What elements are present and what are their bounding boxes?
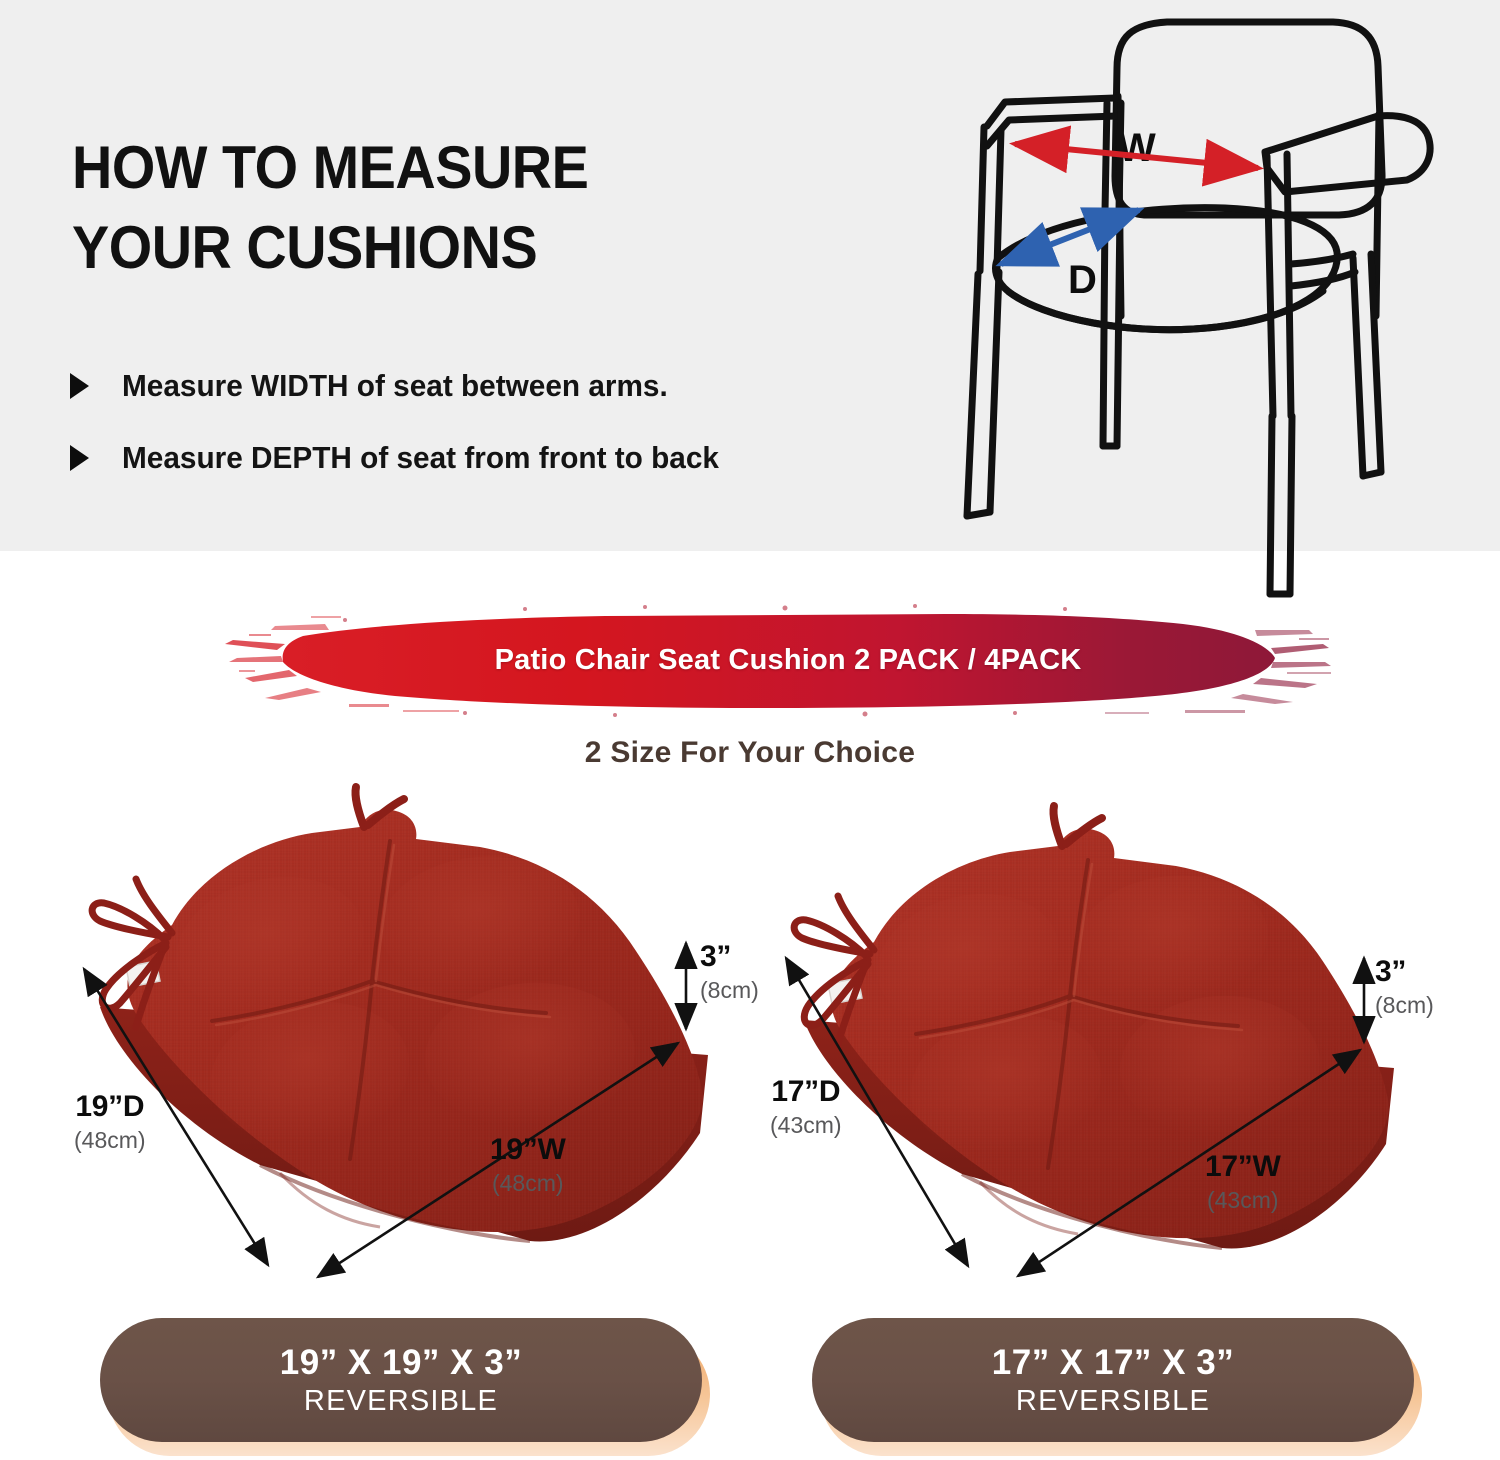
page-title-line-1: HOW TO MEASURE xyxy=(72,128,835,208)
pill-size-label: 17” X 17” X 3” xyxy=(992,1343,1234,1383)
width-arrow xyxy=(1015,144,1258,168)
instruction-list: Measure WIDTH of seat between arms. Meas… xyxy=(70,365,910,509)
pill-reversible-label: REVERSIBLE xyxy=(1016,1385,1210,1418)
pill-reversible-label: REVERSIBLE xyxy=(304,1385,498,1418)
list-item: Measure DEPTH of seat from front to back xyxy=(70,437,910,479)
list-item: Measure WIDTH of seat between arms. xyxy=(70,365,910,407)
cushion-19-inch: 19”D (48cm) 19”W (48cm) 3” (8cm) xyxy=(60,755,790,1295)
depth-dimension-label: 19”D (48cm) xyxy=(74,1090,146,1155)
thickness-dimension-label: 3” (8cm) xyxy=(700,940,759,1005)
size-option-17[interactable]: 17” X 17” X 3” REVERSIBLE xyxy=(812,1318,1422,1456)
product-banner: Patio Chair Seat Cushion 2 PACK / 4PACK xyxy=(225,600,1335,720)
pill-size-label: 19” X 19” X 3” xyxy=(280,1343,522,1383)
banner-title: Patio Chair Seat Cushion 2 PACK / 4PACK xyxy=(225,600,1335,720)
thickness-dimension-label: 3” (8cm) xyxy=(1375,955,1434,1020)
instruction-text: Measure WIDTH of seat between arms. xyxy=(122,368,668,404)
width-dimension-label: 17”W (43cm) xyxy=(1205,1150,1281,1215)
pill-body[interactable]: 19” X 19” X 3” REVERSIBLE xyxy=(100,1318,702,1442)
triangle-bullet-icon xyxy=(70,373,89,399)
width-dimension-label: 19”W (48cm) xyxy=(490,1133,566,1198)
pill-body[interactable]: 17” X 17” X 3” REVERSIBLE xyxy=(812,1318,1414,1442)
page-title: HOW TO MEASURE YOUR CUSHIONS xyxy=(72,128,835,288)
chair-diagram xyxy=(935,0,1500,616)
cushion-17-inch: 17”D (43cm) 17”W (43cm) 3” (8cm) xyxy=(760,770,1460,1295)
triangle-bullet-icon xyxy=(70,445,89,471)
depth-arrow xyxy=(1001,210,1139,264)
instruction-text: Measure DEPTH of seat from front to back xyxy=(122,440,719,476)
page-title-line-2: YOUR CUSHIONS xyxy=(72,208,835,288)
size-option-19[interactable]: 19” X 19” X 3” REVERSIBLE xyxy=(100,1318,710,1456)
depth-dimension-label: 17”D (43cm) xyxy=(770,1075,842,1140)
